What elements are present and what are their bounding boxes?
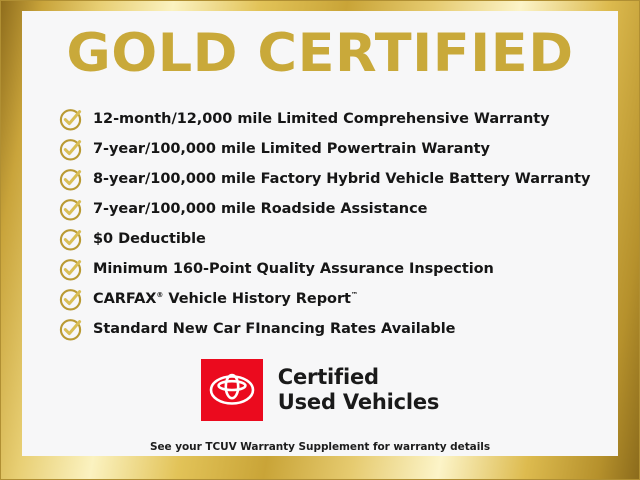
list-item: 8-year/100,000 mile Factory Hybrid Vehic… — [58, 164, 608, 194]
list-item: 7-year/100,000 mile Limited Powertrain W… — [58, 134, 608, 164]
check-circle-icon — [58, 196, 84, 222]
trademark-mark: ™ — [351, 291, 358, 299]
list-item: Standard New Car FInancing Rates Availab… — [58, 314, 608, 344]
check-circle-icon — [58, 136, 84, 162]
list-item-label: 7-year/100,000 mile Limited Powertrain W… — [93, 141, 490, 157]
check-circle-icon — [58, 316, 84, 342]
lockup-wordmark: Certified Used Vehicles — [278, 365, 439, 415]
carfax-rest: Vehicle History Report — [163, 291, 351, 307]
list-item-label: $0 Deductible — [93, 231, 206, 247]
list-item-label: Minimum 160-Point Quality Assurance Insp… — [93, 261, 494, 277]
toyota-emblem-icon — [201, 359, 263, 421]
list-item: 12-month/12,000 mile Limited Comprehensi… — [58, 104, 608, 134]
list-item-label-carfax: CARFAX® Vehicle History Report™ — [93, 291, 358, 307]
list-item: $0 Deductible — [58, 224, 608, 254]
list-item: Minimum 160-Point Quality Assurance Insp… — [58, 254, 608, 284]
check-circle-icon — [58, 106, 84, 132]
toyota-certified-lockup: Certified Used Vehicles — [22, 359, 618, 421]
list-item-label: 7-year/100,000 mile Roadside Assistance — [93, 201, 427, 217]
list-item-label: 8-year/100,000 mile Factory Hybrid Vehic… — [93, 171, 590, 187]
page-title: GOLD CERTIFIED — [22, 25, 618, 83]
lockup-line-1: Certified — [278, 365, 439, 390]
badge-inner-panel: GOLD CERTIFIED 12-month/12,000 mile Limi… — [22, 11, 618, 456]
list-item-label: 12-month/12,000 mile Limited Comprehensi… — [93, 111, 550, 127]
benefits-list: 12-month/12,000 mile Limited Comprehensi… — [58, 104, 608, 344]
check-circle-icon — [58, 286, 84, 312]
check-circle-icon — [58, 166, 84, 192]
check-circle-icon — [58, 256, 84, 282]
footer-disclaimer: See your TCUV Warranty Supplement for wa… — [22, 441, 618, 453]
list-item-label: Standard New Car FInancing Rates Availab… — [93, 321, 455, 337]
lockup-line-2: Used Vehicles — [278, 390, 439, 415]
carfax-brand: CARFAX — [93, 291, 156, 307]
list-item: 7-year/100,000 mile Roadside Assistance — [58, 194, 608, 224]
list-item: CARFAX® Vehicle History Report™ — [58, 284, 608, 314]
gold-certified-badge: GOLD CERTIFIED 12-month/12,000 mile Limi… — [0, 0, 640, 480]
check-circle-icon — [58, 226, 84, 252]
